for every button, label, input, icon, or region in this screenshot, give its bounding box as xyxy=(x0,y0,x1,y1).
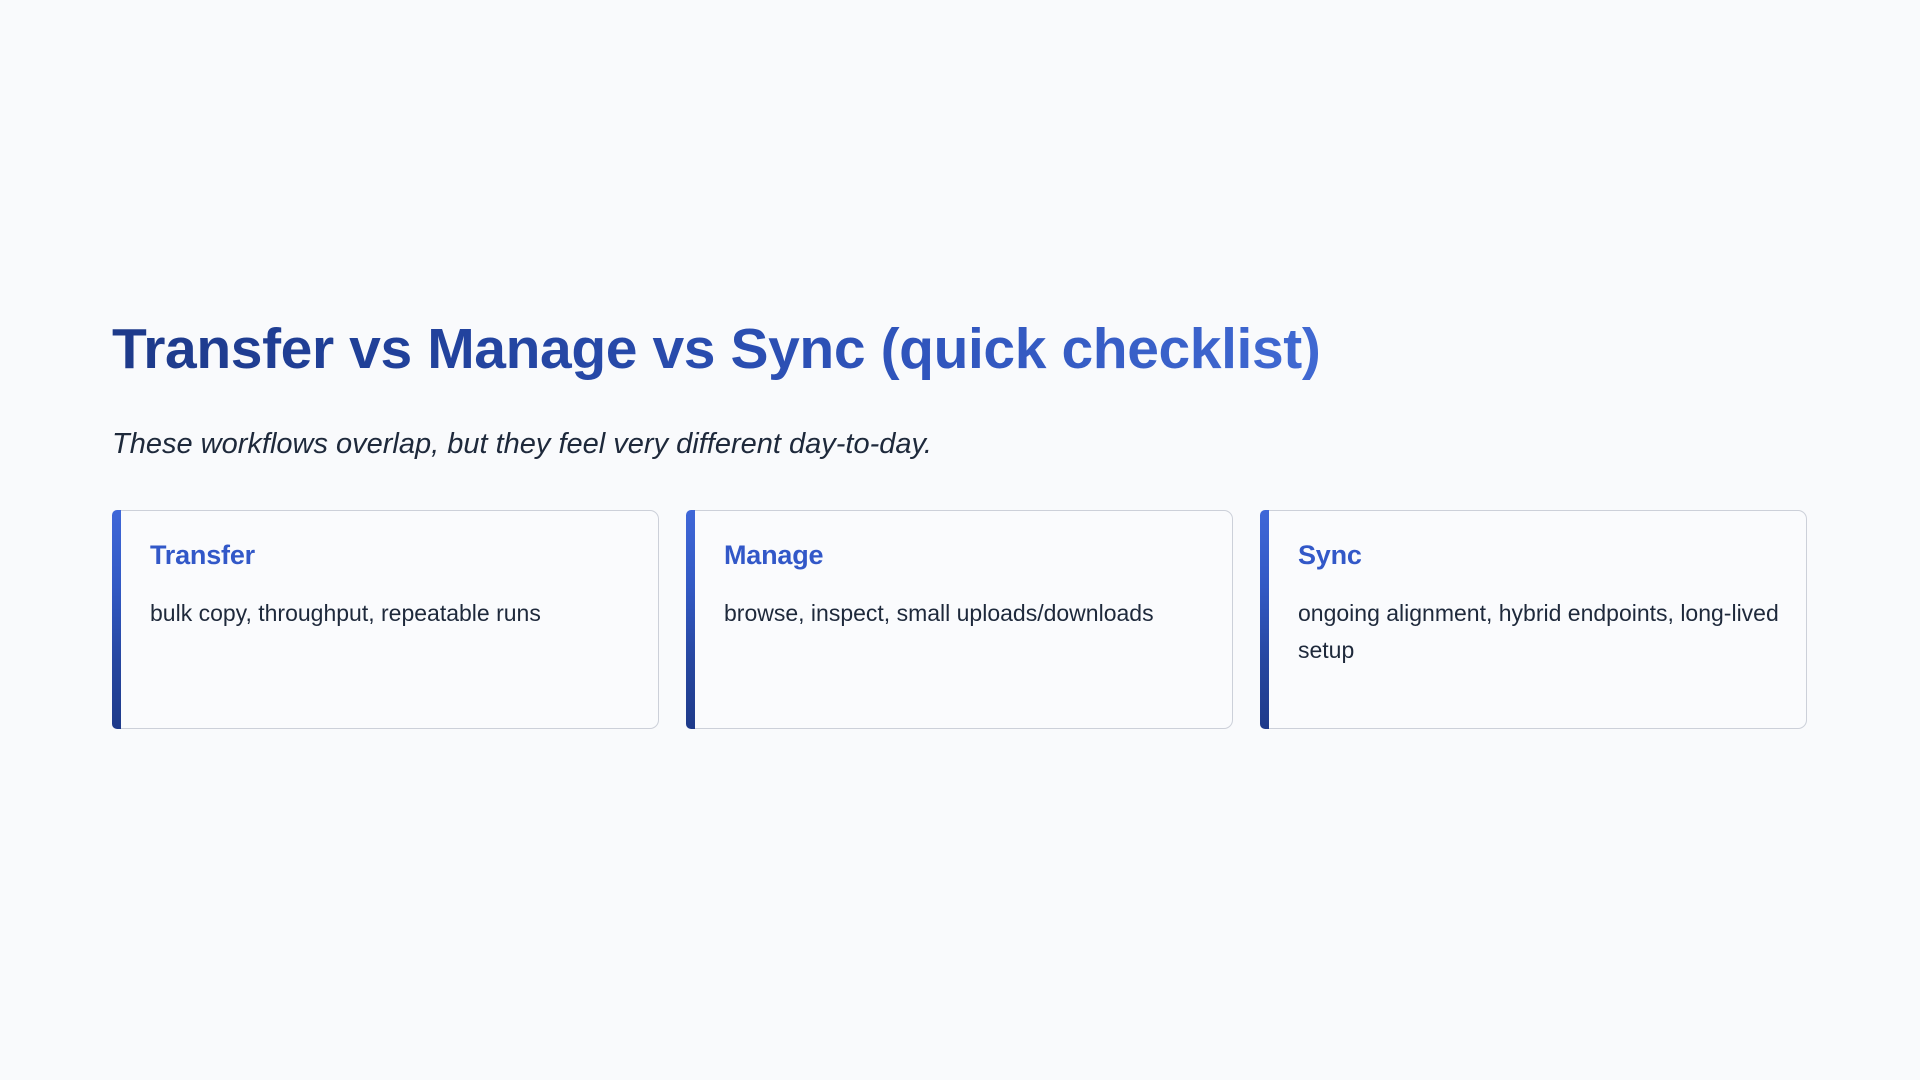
card-title: Manage xyxy=(724,539,1206,571)
card-title: Transfer xyxy=(150,539,632,571)
card-body: ongoing alignment, hybrid endpoints, lon… xyxy=(1298,595,1780,669)
card-body: bulk copy, throughput, repeatable runs xyxy=(150,595,632,632)
slide-canvas: Transfer vs Manage vs Sync (quick checkl… xyxy=(0,0,1920,1080)
accent-bar-icon xyxy=(686,510,695,729)
card-body: browse, inspect, small uploads/downloads xyxy=(724,595,1206,632)
card-row: Transfer bulk copy, throughput, repeatab… xyxy=(112,510,1807,729)
card-transfer[interactable]: Transfer bulk copy, throughput, repeatab… xyxy=(112,510,659,729)
card-sync[interactable]: Sync ongoing alignment, hybrid endpoints… xyxy=(1260,510,1807,729)
page-title: Transfer vs Manage vs Sync (quick checkl… xyxy=(112,318,1812,382)
slide-content: Transfer vs Manage vs Sync (quick checkl… xyxy=(112,318,1812,729)
accent-bar-icon xyxy=(112,510,121,729)
accent-bar-icon xyxy=(1260,510,1269,729)
card-title: Sync xyxy=(1298,539,1780,571)
page-subtitle: These workflows overlap, but they feel v… xyxy=(112,426,1812,464)
card-manage[interactable]: Manage browse, inspect, small uploads/do… xyxy=(686,510,1233,729)
